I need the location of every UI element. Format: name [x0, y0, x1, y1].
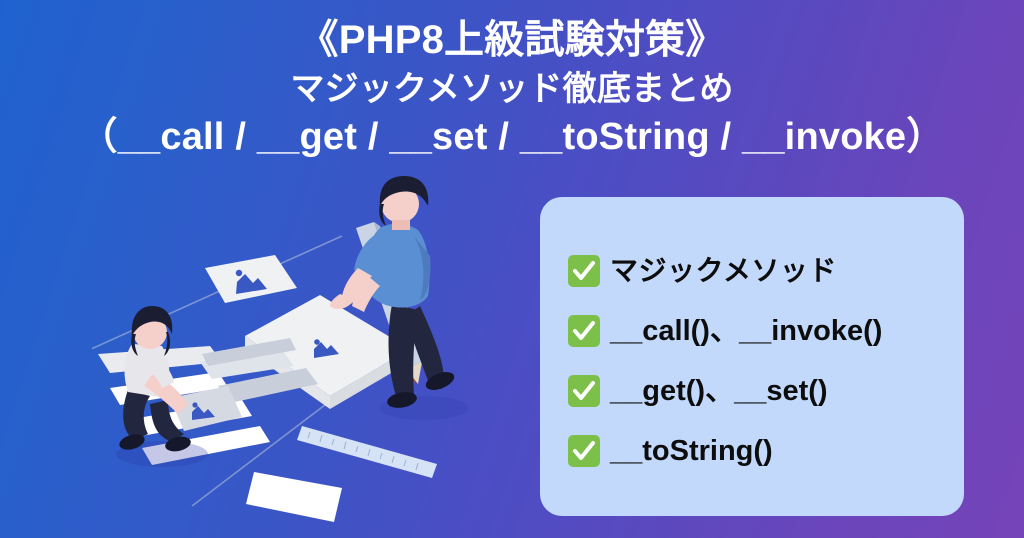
checklist-item[interactable]: __get()、__set() [568, 361, 964, 421]
banner-root: 《PHP8上級試験対策》 マジックメソッド徹底まとめ （__call / __g… [0, 0, 1024, 538]
illustration-svg [92, 176, 492, 526]
ruler [297, 426, 437, 478]
isometric-design-illustration [92, 176, 492, 526]
headline: 《PHP8上級試験対策》 マジックメソッド徹底まとめ （__call / __g… [0, 14, 1024, 162]
check-square-icon[interactable] [568, 255, 600, 287]
checklist-item[interactable]: マジックメソッド [568, 241, 964, 301]
check-square-icon[interactable] [568, 435, 600, 467]
checklist-item[interactable]: __toString() [568, 421, 964, 481]
headline-line-1: 《PHP8上級試験対策》 [0, 14, 1024, 66]
check-square-icon[interactable] [568, 315, 600, 347]
checklist-item-label: __call()、__invoke() [610, 317, 882, 346]
headline-line-2: マジックメソッド徹底まとめ [0, 66, 1024, 112]
check-square-icon[interactable] [568, 375, 600, 407]
checklist-card: マジックメソッド __call()、__invoke() __get()、__s… [540, 197, 964, 516]
headline-line-3: （__call / __get / __set / __toString / _… [0, 112, 1024, 162]
checklist-item-label: __get()、__set() [610, 377, 828, 406]
checklist-item-label: __toString() [610, 437, 773, 466]
checklist-item-label: マジックメソッド [610, 257, 837, 285]
checklist-item[interactable]: __call()、__invoke() [568, 301, 964, 361]
bottom-sheet [246, 472, 342, 522]
